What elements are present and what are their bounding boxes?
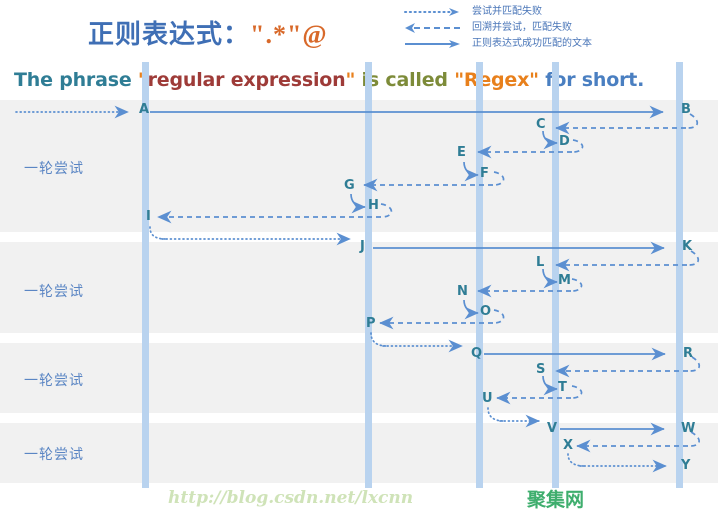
page-title: 正则表达式：".*"@ <box>88 14 328 51</box>
node-label-O: O <box>480 305 491 318</box>
node-label-A: A <box>139 103 149 116</box>
arrow-S-to-T <box>543 376 557 389</box>
node-label-G: G <box>344 179 355 192</box>
node-label-F: F <box>480 167 489 180</box>
arrow-P-down <box>371 333 387 346</box>
solid-arrow-icon <box>404 36 464 52</box>
arrow-I-down <box>150 227 166 239</box>
node-label-E: E <box>457 146 466 159</box>
page-title-regex: ".*"@ <box>250 20 328 49</box>
arrow-L-to-M <box>543 269 557 282</box>
diagram-canvas: 正则表达式：".*"@ 尝试并匹配失败 回溯并尝试，匹配失败 <box>0 0 718 519</box>
dashed-left-arrow-icon <box>404 20 464 36</box>
legend-label-solid: 正则表达式成功匹配的文本 <box>464 36 592 52</box>
node-label-U: U <box>482 392 493 405</box>
sample-sentence: The phrase "regular expression" is calle… <box>14 69 644 91</box>
backtracking-diagram: 一轮尝试 一轮尝试 一轮尝试 一轮尝试 <box>0 98 718 488</box>
dotted-arrow-icon <box>404 4 464 20</box>
watermark-brand: 聚集网 <box>527 485 584 512</box>
node-label-J: J <box>360 240 365 253</box>
arrow-C-to-D <box>543 131 557 143</box>
node-label-V: V <box>547 422 557 435</box>
legend-label-dotted: 尝试并匹配失败 <box>464 4 542 20</box>
node-label-X: X <box>563 439 573 452</box>
legend-item-solid: 正则表达式成功匹配的文本 <box>404 36 714 52</box>
sentence-part-7: " <box>529 69 539 91</box>
legend: 尝试并匹配失败 回溯并尝试，匹配失败 正则表达式成功匹配的文本 <box>404 4 714 52</box>
node-label-D: D <box>559 135 570 148</box>
sentence-part-6: Regex <box>464 69 529 91</box>
arrow-O-loop <box>494 310 504 323</box>
node-label-S: S <box>536 363 545 376</box>
sentence-part-5: " <box>454 69 464 91</box>
node-label-K: K <box>682 240 692 253</box>
node-label-T: T <box>558 381 567 394</box>
arrow-D-loop <box>573 140 583 152</box>
node-label-W: W <box>681 422 695 435</box>
node-label-N: N <box>457 285 468 298</box>
sentence-part-3: " <box>345 69 355 91</box>
arrow-M-loop <box>572 279 582 291</box>
legend-item-dotted: 尝试并匹配失败 <box>404 4 714 20</box>
node-label-M: M <box>558 274 571 287</box>
sentence-part-0: The phrase <box>14 69 138 91</box>
node-label-P: P <box>366 317 376 330</box>
arrow-X-down <box>568 454 584 466</box>
arrow-U-down <box>488 408 504 421</box>
node-label-Y: Y <box>681 459 690 472</box>
node-label-Q: Q <box>471 347 482 360</box>
node-label-L: L <box>536 256 544 269</box>
node-label-H: H <box>368 199 379 212</box>
arrow-E-to-F <box>464 162 478 175</box>
legend-item-dashed: 回溯并尝试，匹配失败 <box>404 20 714 36</box>
legend-label-dashed: 回溯并尝试，匹配失败 <box>464 20 572 36</box>
arrow-H-loop <box>381 204 391 217</box>
arrow-N-to-O <box>464 300 478 313</box>
arrow-F-loop <box>494 172 504 185</box>
arrow-T-loop <box>572 386 582 398</box>
sentence-part-2: regular expression <box>148 69 346 91</box>
node-label-R: R <box>683 347 693 360</box>
arrow-G-to-H <box>351 194 365 207</box>
node-label-C: C <box>536 118 546 131</box>
arrow-layer <box>0 98 718 488</box>
watermark-url: http://blog.csdn.net/lxcnn <box>168 488 413 508</box>
node-label-B: B <box>681 103 691 116</box>
node-label-I: I <box>146 210 151 223</box>
page-title-prefix: 正则表达式： <box>88 20 250 50</box>
